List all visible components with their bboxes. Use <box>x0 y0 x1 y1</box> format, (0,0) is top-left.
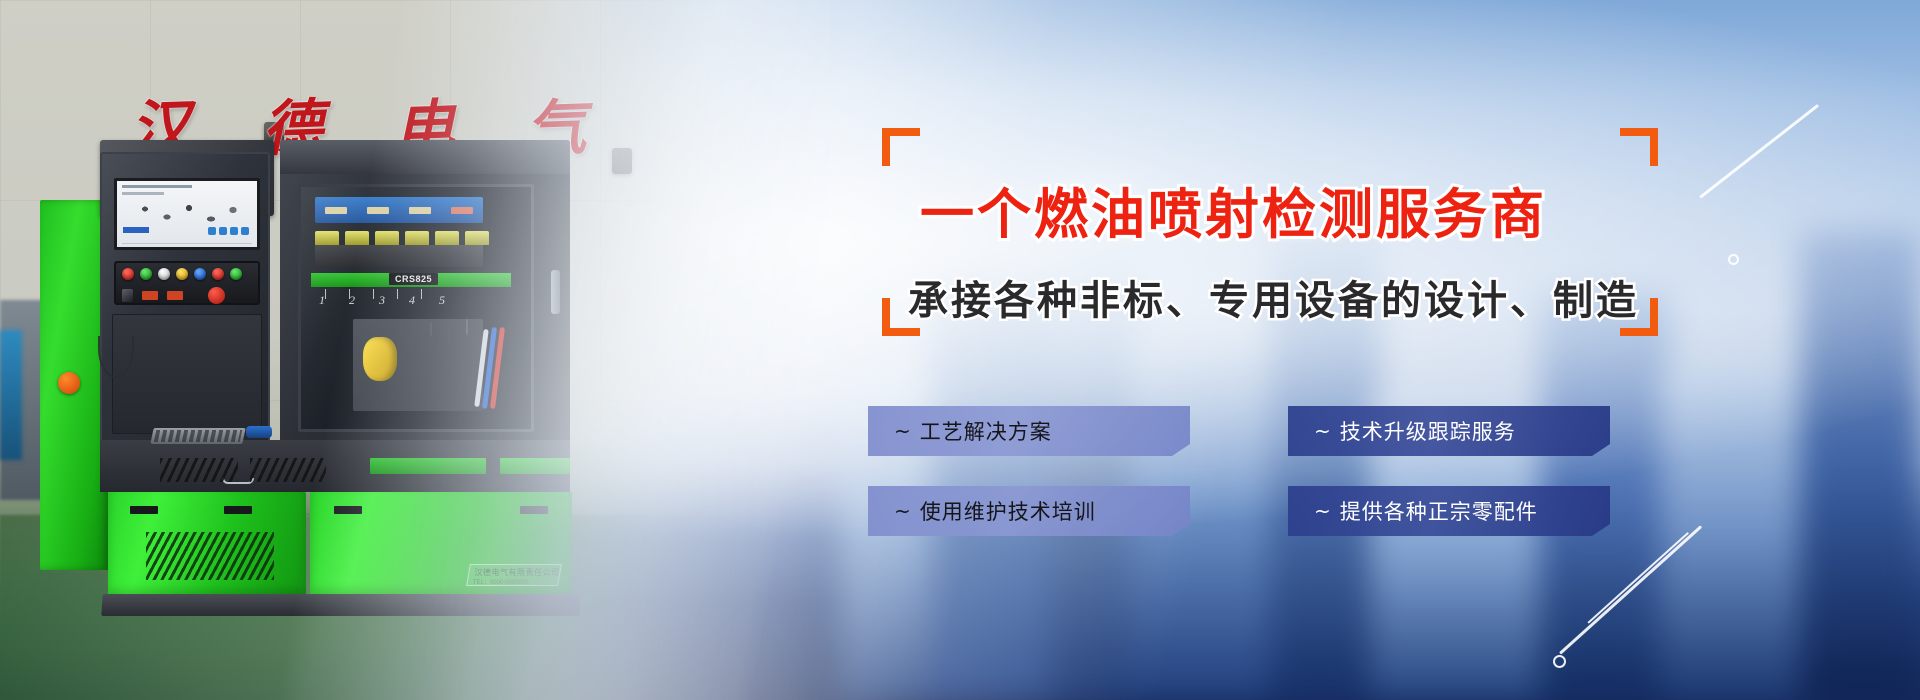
blue-button-icon <box>194 268 206 280</box>
tilde-prefix: ~ <box>1314 419 1332 443</box>
window-glass-reflection <box>301 187 531 429</box>
keyboard-keys <box>154 430 243 442</box>
cabinet-handle <box>224 506 252 514</box>
red-label-tag <box>142 291 158 300</box>
decorative-circle <box>1553 655 1566 668</box>
green-drawer-slot <box>370 458 486 474</box>
decorative-circle <box>1728 254 1739 265</box>
rotary-knob-icon <box>122 289 133 302</box>
corner-bracket-top-right-icon <box>1620 128 1658 166</box>
red-label-tag <box>167 291 183 300</box>
machine-base-plinth <box>101 594 581 616</box>
background-equipment <box>0 330 22 460</box>
screen-header-line <box>122 185 192 188</box>
cabinet-top-rail <box>280 140 570 174</box>
machine-control-panel <box>100 152 270 452</box>
tilde-prefix: ~ <box>1314 499 1332 523</box>
screen-icon <box>230 227 238 235</box>
indicator-button-row <box>122 268 242 280</box>
feature-box-process-solution[interactable]: ~ 工艺解决方案 <box>868 406 1190 456</box>
bench-vent <box>160 458 238 482</box>
screen-subheader-line <box>122 192 164 195</box>
manufacturer-label: 汉德电气有限责任公司 TEL：0000-0000000 <box>466 564 562 586</box>
cabinet-handle <box>334 506 362 514</box>
cabinet-handle <box>130 506 158 514</box>
mouse-device <box>246 426 272 438</box>
switch-row <box>122 287 225 304</box>
machine-test-cabinet: CRS825 1 2 3 4 5 <box>280 140 570 470</box>
screen-footer-line <box>122 243 252 244</box>
feature-label: 工艺解决方案 <box>920 416 1052 446</box>
machine-display-screen <box>114 178 260 250</box>
manufacturer-phone: TEL：0000-0000000 <box>473 577 529 586</box>
machine-button-strip <box>114 261 260 305</box>
red-button-icon <box>212 268 224 280</box>
emergency-stop-button-icon <box>58 372 80 394</box>
test-bench-machine: CRS825 <box>40 140 570 530</box>
cabinet-door-handle <box>551 270 560 314</box>
red-button-icon <box>122 268 134 280</box>
banner-subheadline: 承接各种非标、专用设备的设计、制造 <box>908 268 1639 326</box>
hero-banner: 汉 德 电 气 CRS825 <box>0 0 1920 700</box>
cabinet-handle <box>520 506 548 514</box>
green-button-icon <box>140 268 152 280</box>
screen-icon <box>208 227 216 235</box>
keyboard <box>150 428 245 444</box>
green-button-icon <box>230 268 242 280</box>
banner-headline: 一个燃油喷射检测服务商 <box>920 170 1547 249</box>
screen-icon <box>241 227 249 235</box>
tilde-prefix: ~ <box>894 499 912 523</box>
bench-vent <box>250 458 326 482</box>
corner-bracket-top-left-icon <box>882 128 920 166</box>
white-button-icon <box>158 268 170 280</box>
large-red-button-icon <box>208 287 225 304</box>
screen-logo-mark <box>123 227 149 233</box>
tilde-prefix: ~ <box>894 419 912 443</box>
screen-icon <box>219 227 227 235</box>
feature-label: 提供各种正宗零配件 <box>1340 496 1538 526</box>
yellow-button-icon <box>176 268 188 280</box>
panel-lower-section <box>112 314 262 434</box>
feature-box-upgrade-tracking[interactable]: ~ 技术升级跟踪服务 <box>1288 406 1610 456</box>
green-cabinet-left <box>108 492 306 596</box>
cabinet-vent-grille <box>146 532 274 580</box>
green-drawer-slot <box>500 458 570 474</box>
green-cabinet-right: 汉德电气有限责任公司 TEL：0000-0000000 <box>310 492 572 596</box>
wall-lamp-icon <box>612 148 632 174</box>
feature-label: 使用维护技术培训 <box>920 496 1096 526</box>
feature-box-maintenance-training[interactable]: ~ 使用维护技术培训 <box>868 486 1190 536</box>
product-photo: 汉 德 电 气 CRS825 <box>0 0 830 700</box>
feature-label: 技术升级跟踪服务 <box>1340 416 1516 446</box>
feature-box-genuine-parts[interactable]: ~ 提供各种正宗零配件 <box>1288 486 1610 536</box>
screen-icon-row <box>208 227 249 235</box>
cabinet-viewing-window: CRS825 1 2 3 4 5 <box>298 184 534 432</box>
